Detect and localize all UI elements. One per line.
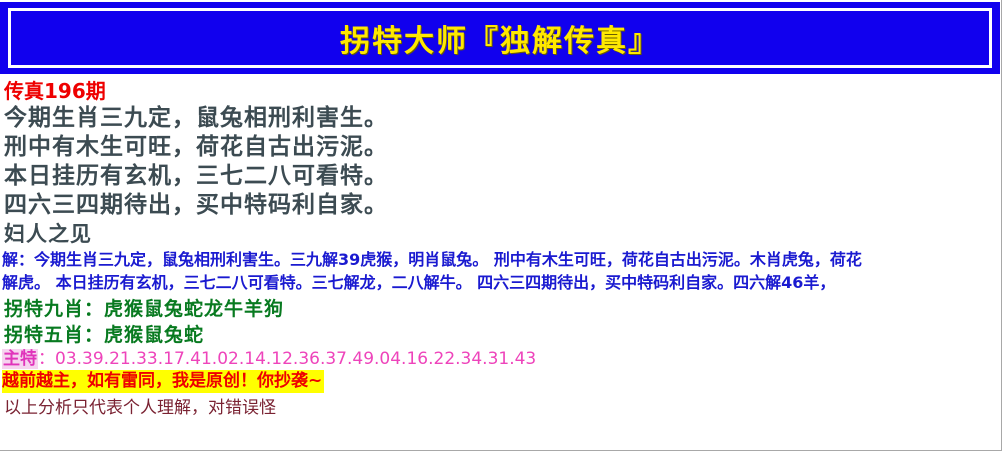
main-pick-numbers: 03.39.21.33.17.41.02.14.12.36.37.49.04.1…: [55, 349, 536, 369]
page-title: 拐特大师『独解传真』: [340, 16, 660, 60]
five-xiao-line: 拐特五肖：虎猴鼠兔蛇: [0, 322, 1000, 348]
explanation-block: 解：今期生肖三九定，鼠兔相刑利害生。三九解39虎猴，明肖鼠兔。 刑中有木生可旺，…: [0, 248, 1000, 296]
section-heading: 妇人之见: [0, 220, 1000, 248]
main-pick-label: 主特: [2, 349, 38, 369]
explanation-line: 解虎。 本日挂历有玄机，三七二八可看特。三七解龙，二八解牛。 四六三四期待出，买…: [2, 271, 1000, 294]
warning-row: 越前越主，如有雷同，我是原创！你抄袭~: [0, 370, 1000, 393]
page-root: 拐特大师『独解传真』 传真196期 今期生肖三九定，鼠兔相刑利害生。 刑中有木生…: [0, 0, 1002, 451]
content-area: 传真196期 今期生肖三九定，鼠兔相刑利害生。 刑中有木生可旺，荷花自古出污泥。…: [0, 76, 1000, 421]
verse-line: 四六三四期待出，买中特码利自家。: [4, 191, 1000, 220]
verse-line: 本日挂历有玄机，三七二八可看特。: [4, 162, 1000, 191]
explanation-line: 解：今期生肖三九定，鼠兔相刑利害生。三九解39虎猴，明肖鼠兔。 刑中有木生可旺，…: [2, 248, 1000, 271]
nine-xiao-line: 拐特九肖：虎猴鼠兔蛇龙牛羊狗: [0, 296, 1000, 322]
main-pick-line: 主特：03.39.21.33.17.41.02.14.12.36.37.49.0…: [0, 348, 1000, 370]
main-pick-separator: ：: [38, 349, 55, 369]
header-banner: 拐特大师『独解传真』: [0, 2, 1000, 74]
issue-label: 传真196期: [0, 76, 1000, 104]
verse-line: 今期生肖三九定，鼠兔相刑利害生。: [4, 104, 1000, 133]
warning-banner: 越前越主，如有雷同，我是原创！你抄袭~: [2, 370, 324, 393]
footnote-disclaimer: 以上分析只代表个人理解，对错误怪: [0, 393, 1000, 421]
header-banner-frame: 拐特大师『独解传真』: [8, 8, 992, 68]
verse-block: 今期生肖三九定，鼠兔相刑利害生。 刑中有木生可旺，荷花自古出污泥。 本日挂历有玄…: [0, 104, 1000, 220]
verse-line: 刑中有木生可旺，荷花自古出污泥。: [4, 133, 1000, 162]
